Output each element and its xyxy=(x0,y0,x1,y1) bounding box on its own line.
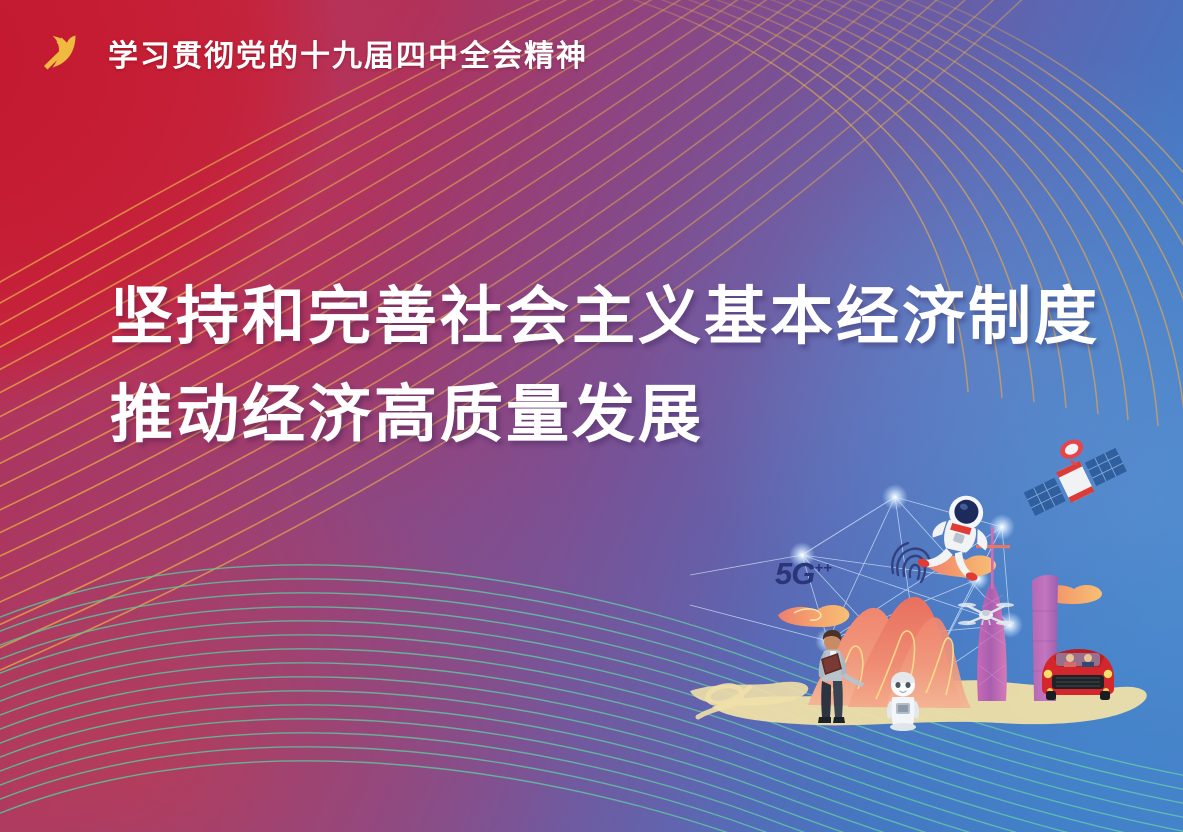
poster-root: 学习贯彻党的十九届四中全会精神 坚持和完善社会主义基本经济制度 推动经济高质量发… xyxy=(0,0,1183,832)
label-5g: 5G++ xyxy=(775,556,832,592)
label-5g-superscript: ++ xyxy=(814,560,832,577)
technology-illustration xyxy=(690,455,1183,785)
main-title: 坚持和完善社会主义基本经济制度 推动经济高质量发展 xyxy=(110,268,1100,464)
label-5g-text: 5G xyxy=(775,556,814,591)
main-title-line-2: 推动经济高质量发展 xyxy=(110,366,1100,464)
header-title: 学习贯彻党的十九届四中全会精神 xyxy=(108,31,588,75)
main-title-line-1: 坚持和完善社会主义基本经济制度 xyxy=(110,268,1100,366)
party-emblem-icon xyxy=(34,26,88,80)
red-car-icon xyxy=(1042,649,1114,700)
header-bar: 学习贯彻党的十九届四中全会精神 xyxy=(0,0,660,106)
